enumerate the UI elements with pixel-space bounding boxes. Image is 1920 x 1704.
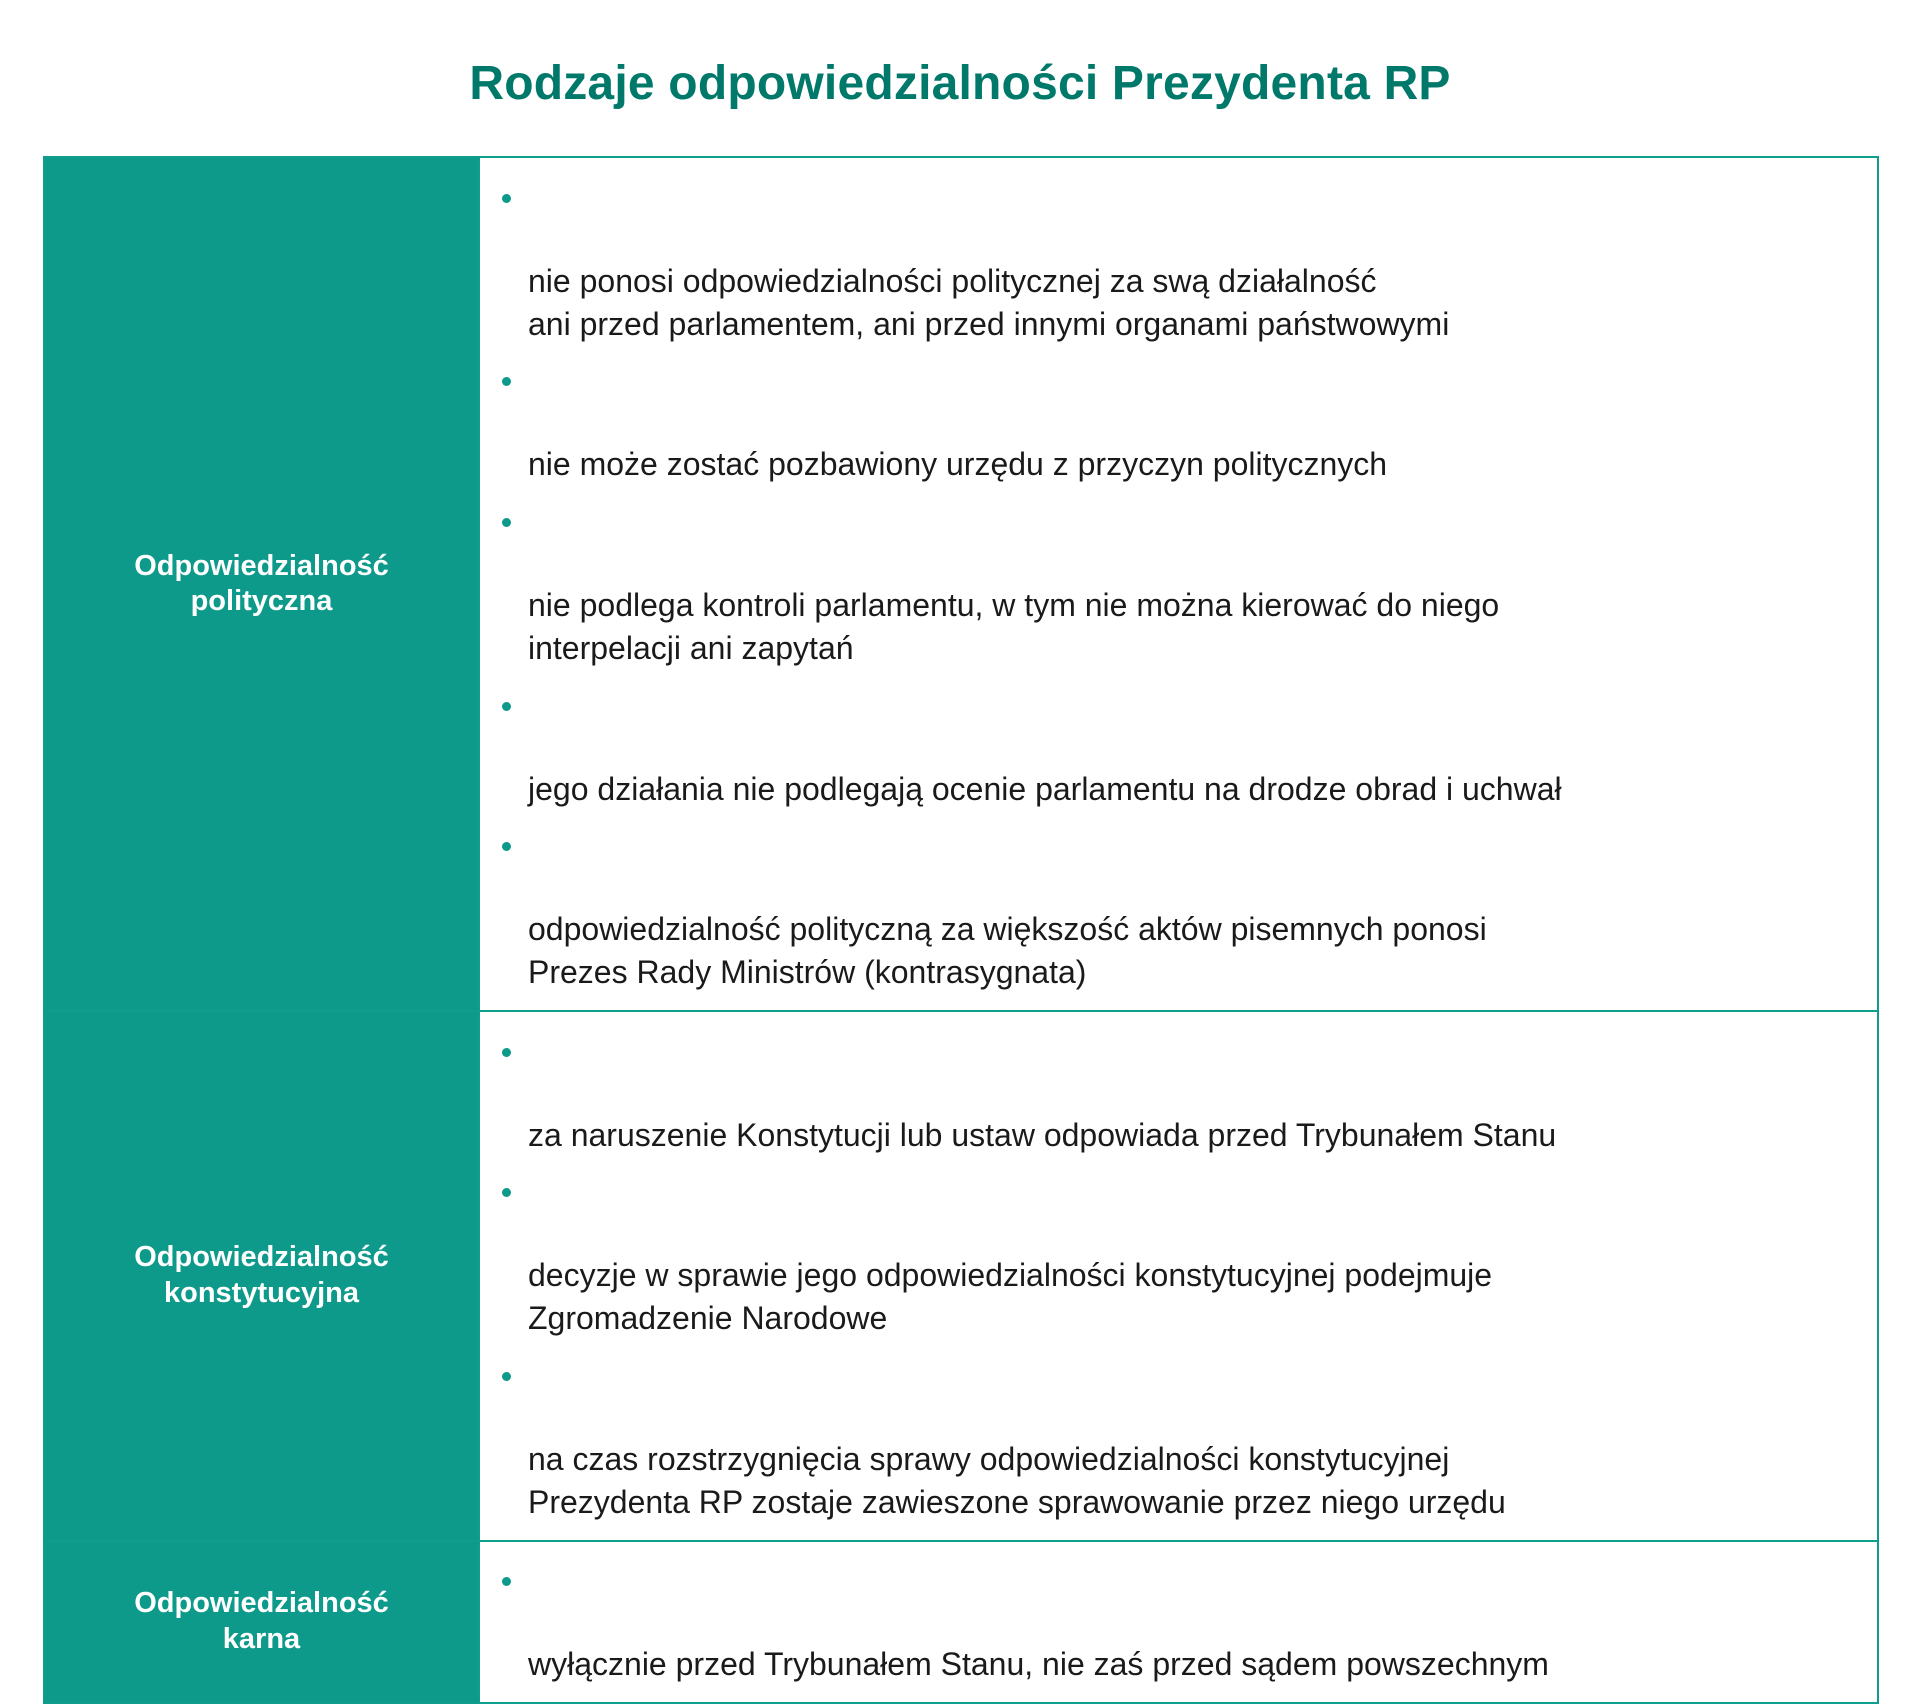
list-item-text: wyłącznie przed Trybunałem Stanu, nie za… <box>528 1646 1549 1682</box>
list-item: za naruszenie Konstytucji lub ustaw odpo… <box>490 1028 1859 1157</box>
bullet-list-criminal: wyłącznie przed Trybunałem Stanu, nie za… <box>490 1558 1859 1687</box>
list-item: wyłącznie przed Trybunałem Stanu, nie za… <box>490 1558 1859 1687</box>
category-cell-constitutional: Odpowiedzialność konstytucyjna <box>45 1012 480 1540</box>
bullet-dot-icon <box>502 194 511 203</box>
bullet-dot-icon <box>502 377 511 386</box>
list-item-text: jego działania nie podlegają ocenie parl… <box>528 771 1562 807</box>
list-item: nie może zostać pozbawiony urzędu z przy… <box>490 358 1859 487</box>
list-item: decyzje w sprawie jego odpowiedzialności… <box>490 1169 1859 1341</box>
category-label: Odpowiedzialność karna <box>134 1586 389 1657</box>
list-item-text: nie podlega kontroli parlamentu, w tym n… <box>528 587 1499 666</box>
list-item: na czas rozstrzygnięcia sprawy odpowiedz… <box>490 1352 1859 1524</box>
bullet-dot-icon <box>502 518 511 527</box>
page-title: Rodzaje odpowiedzialności Prezydenta RP <box>0 32 1920 111</box>
bullet-dot-icon <box>502 842 511 851</box>
table-row: Odpowiedzialność karna wyłącznie przed T… <box>45 1542 1877 1703</box>
bullet-list-political: nie ponosi odpowiedzialności politycznej… <box>490 174 1859 994</box>
list-item: nie podlega kontroli parlamentu, w tym n… <box>490 498 1859 670</box>
table-row: Odpowiedzialność polityczna nie ponosi o… <box>45 158 1877 1012</box>
category-cell-political: Odpowiedzialność polityczna <box>45 158 480 1010</box>
list-item-text: odpowiedzialność polityczną za większość… <box>528 911 1487 990</box>
category-label: Odpowiedzialność polityczna <box>134 549 389 620</box>
bullet-dot-icon <box>502 1048 511 1057</box>
content-cell-constitutional: za naruszenie Konstytucji lub ustaw odpo… <box>480 1012 1877 1540</box>
bullet-dot-icon <box>502 1577 511 1586</box>
bullet-list-constitutional: za naruszenie Konstytucji lub ustaw odpo… <box>490 1028 1859 1524</box>
content-cell-criminal: wyłącznie przed Trybunałem Stanu, nie za… <box>480 1542 1877 1703</box>
list-item: jego działania nie podlegają ocenie parl… <box>490 682 1859 811</box>
content-cell-political: nie ponosi odpowiedzialności politycznej… <box>480 158 1877 1010</box>
list-item: nie ponosi odpowiedzialności politycznej… <box>490 174 1859 346</box>
bullet-dot-icon <box>502 702 511 711</box>
table-row: Odpowiedzialność konstytucyjna za narusz… <box>45 1012 1877 1542</box>
slide-root: Rodzaje odpowiedzialności Prezydenta RP … <box>0 32 1920 1112</box>
category-label: Odpowiedzialność konstytucyjna <box>134 1240 389 1311</box>
bullet-dot-icon <box>502 1372 511 1381</box>
list-item-text: nie ponosi odpowiedzialności politycznej… <box>528 263 1449 342</box>
list-item-text: nie może zostać pozbawiony urzędu z przy… <box>528 446 1387 482</box>
category-cell-criminal: Odpowiedzialność karna <box>45 1542 480 1703</box>
list-item-text: na czas rozstrzygnięcia sprawy odpowiedz… <box>528 1441 1506 1520</box>
bullet-dot-icon <box>502 1188 511 1197</box>
responsibility-table: Odpowiedzialność polityczna nie ponosi o… <box>43 156 1879 1704</box>
list-item: odpowiedzialność polityczną za większość… <box>490 822 1859 994</box>
list-item-text: za naruszenie Konstytucji lub ustaw odpo… <box>528 1117 1556 1153</box>
list-item-text: decyzje w sprawie jego odpowiedzialności… <box>528 1257 1492 1336</box>
